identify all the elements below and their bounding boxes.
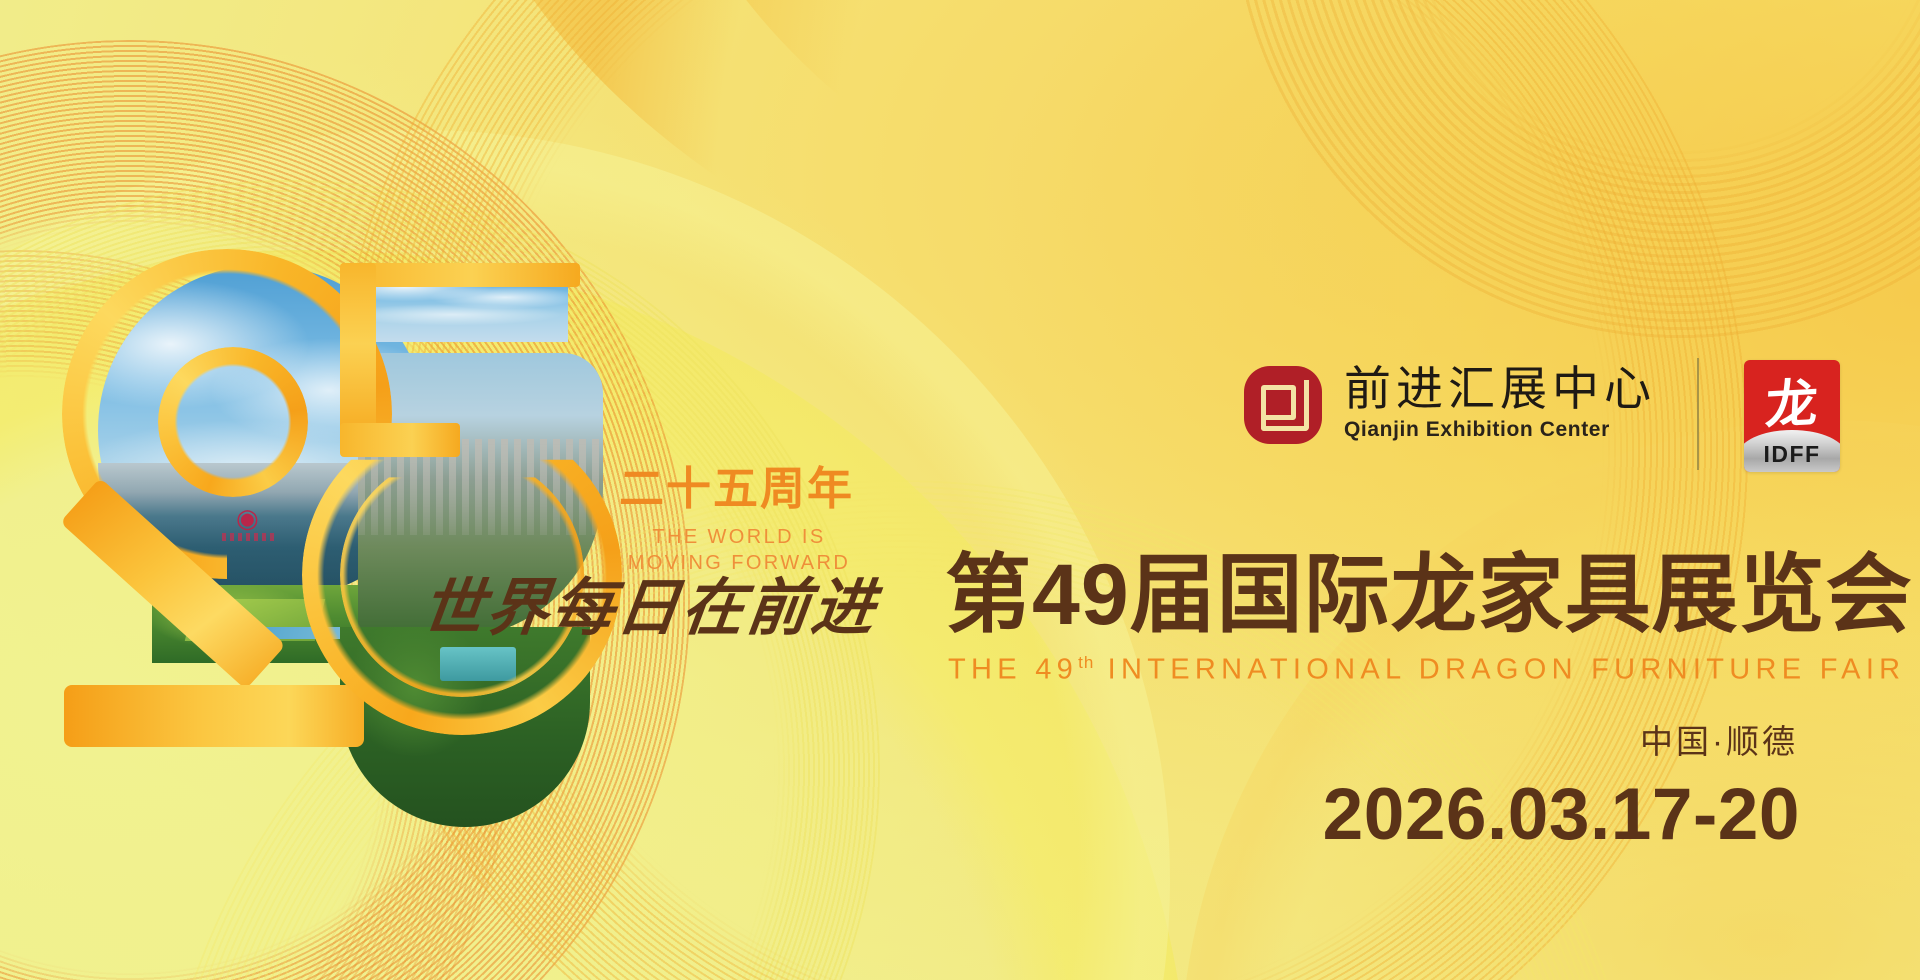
idff-badge[interactable]: 龙 IDFF (1744, 360, 1840, 472)
fair-title-ordinal-suffix: th (1078, 653, 1094, 672)
anniversary-25-artwork: ◉ (40, 255, 640, 845)
photo-building-logo-mark: ◉ (236, 503, 259, 534)
organizer-name-block: 前进汇展中心 Qianjin Exhibition Center (1344, 365, 1656, 445)
event-dates: 2026.03.17-20 (1323, 778, 1800, 851)
lockup-divider (1697, 358, 1699, 470)
fair-title-chinese: 第49届国际龙家具展览会 (945, 552, 1913, 638)
anniversary-chinese-label: 二十五周年 (619, 466, 854, 511)
idff-badge-plate: IDFF (1744, 430, 1840, 472)
numeral-2-base-bar (64, 685, 364, 747)
fair-title-english-prefix: THE 49 (948, 654, 1078, 686)
photo-sky-band-top (358, 270, 568, 342)
event-location: 中国·顺德 (1640, 725, 1798, 758)
photo-building-logo-caption (222, 533, 278, 541)
fair-title-english-rest: INTERNATIONAL DRAGON FURNITURE FAIR (1094, 654, 1905, 686)
dragon-calligraphy-icon: 龙 (1744, 360, 1840, 438)
organizer-name-english: Qianjin Exhibition Center (1344, 414, 1656, 446)
photo-roadside-billboard (440, 647, 516, 681)
qianjin-logo-icon (1244, 366, 1322, 444)
tagline-line-2: MOVING FORWARD (619, 550, 859, 576)
tagline-line-1: THE WORLD IS (619, 524, 859, 550)
organizer-logo-lockup[interactable]: 前进汇展中心 Qianjin Exhibition Center (1244, 365, 1656, 445)
fair-title-english: THE 49th INTERNATIONAL DRAGON FURNITURE … (948, 654, 1905, 685)
organizer-name-chinese: 前进汇展中心 (1344, 365, 1656, 414)
promotional-banner: ◉ 二十五周年 THE WORLD IS MOVI (0, 0, 1920, 980)
idff-abbreviation: IDFF (1744, 441, 1840, 468)
chinese-slogan: 世界每日在前进 (418, 578, 881, 640)
qianjin-logo-shape-3 (1289, 380, 1309, 431)
anniversary-english-tagline: THE WORLD IS MOVING FORWARD (619, 524, 859, 577)
